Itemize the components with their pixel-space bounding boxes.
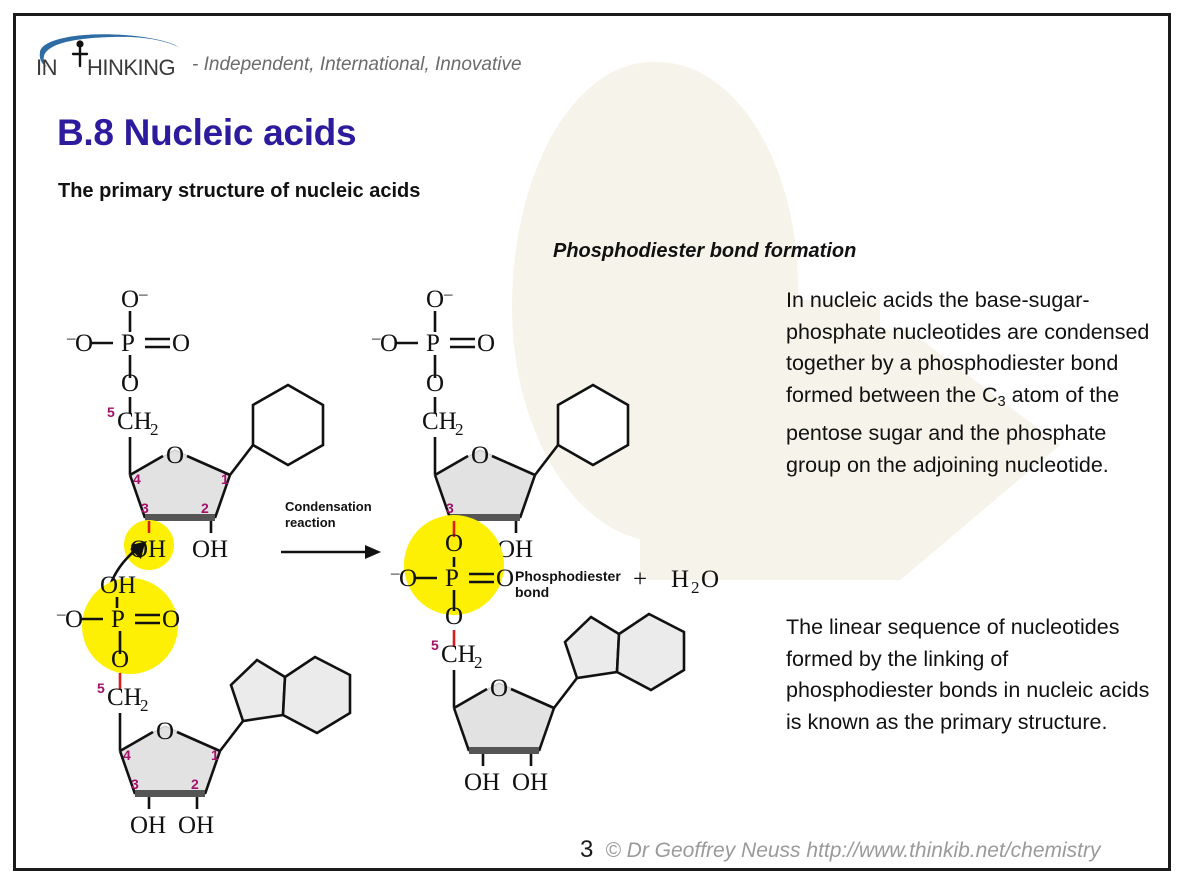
ring-oxygen-bottom: O [156,718,174,745]
product-ch2-subscript-bottom: 2 [474,653,483,672]
product-ring-oxygen-bottom: O [490,675,508,702]
ch2-subscript-bottom: 2 [140,696,149,715]
purine-base-bottom [220,657,350,751]
pentose-ring-bottom: O 4 3 2 1 [120,718,220,797]
ring-number-4-bottom: 4 [123,747,131,763]
ring-number-1-top: 1 [221,471,229,487]
reaction-label-line2: reaction [285,515,336,530]
product-purine-base-bottom [554,614,684,708]
phosphodiester-oxygen-lower: O [445,603,463,630]
body-paragraph-1: In nucleic acids the base-sugar-phosphat… [786,285,1156,481]
product-ring-number-3: 3 [446,500,454,516]
oh-2-top: OH [192,536,228,563]
svg-text:IN: IN [36,55,57,80]
product-oh-2: OH [512,769,548,796]
ring-oxygen-top: O [166,442,184,469]
ring-number-2-top: 2 [201,500,209,516]
ch2-group-top: CH [117,408,152,435]
water-o: O [701,566,719,593]
oh-3-bottom: OH [130,812,166,835]
plus-sign: + [633,566,647,593]
phosphate-group-product-top: O – – O P O O [371,284,495,397]
carbon-5-label-top: 5 [107,404,115,420]
reactant-nucleotide-bottom: OH – O P O O 5 CH 2 [56,572,350,835]
water-h: H [671,566,689,593]
page-title: B.8 Nucleic acids [57,112,356,154]
ring-number-4-top: 4 [133,471,141,487]
phosphate-oh-bottom: OH [100,572,136,599]
phosphodiester-double-oxygen: O [496,565,514,592]
oh-2-bottom: OH [178,812,214,835]
paragraph-1-subscript: 3 [998,394,1006,410]
product-phosphate-ester-oxygen: O [426,370,444,397]
water-subscript: 2 [691,578,700,597]
page-number: 3 [580,836,593,864]
product-pentose-ring-top: O 3 [435,442,535,521]
ch2-subscript-top: 2 [150,420,159,439]
phosphate-o-minus-left: O [75,330,93,357]
ring-number-3-top: 3 [141,500,149,516]
pyrimidine-base-top [230,385,323,475]
phosphodiester-oxygen-upper: O [445,530,463,557]
header-logo-bar: IN HINKING - Independent, International,… [32,28,522,84]
carbon-5-label-bottom: 5 [97,680,105,696]
product-pentose-ring-bottom: O [454,675,554,754]
page-subtitle: The primary structure of nucleic acids [58,180,420,203]
phosphate-group-top: O – – O P O O [66,284,190,397]
slide-canvas: IN HINKING - Independent, International,… [0,0,1192,894]
phosphorus-atom-bottom: P [111,606,125,633]
phosphate-double-bond-oxygen-bottom: O [162,606,180,633]
phosphate-ester-oxygen-bottom: O [111,646,129,673]
reaction-label-line1: Condensation [285,499,372,514]
phosphate-ester-oxygen: O [121,370,139,397]
body-paragraph-2: The linear sequence of nucleotides forme… [786,612,1156,738]
footer: 3 © Dr Geoffrey Neuss http://www.thinkib… [580,836,1101,864]
swoosh-person-logo-icon: IN HINKING [32,30,184,84]
product-ch2-subscript-top: 2 [455,420,464,439]
section-heading: Phosphodiester bond formation [553,240,856,263]
product-dinucleotide: O – – O P O O CH 2 O 3 [371,284,719,796]
bond-label-line2: bond [515,584,549,600]
product-phosphate-o-minus-top: O [426,286,444,313]
phosphate-o-minus-top: O [121,286,139,313]
phosphodiester-o-minus: O [399,565,417,592]
ch2-group-bottom: CH [107,684,142,711]
product-phosphate-o-minus-left: O [380,330,398,357]
product-ch2-top: CH [422,408,457,435]
bond-label-line1: Phosphodiester [515,568,621,584]
ring-number-1-bottom: 1 [211,747,219,763]
phosphate-o-minus-top-charge: – [138,284,148,303]
product-phosphorus-top: P [426,330,440,357]
pentose-ring-top: O 4 3 2 1 [130,442,230,521]
product-phosphate-o-minus-top-charge: – [443,284,453,303]
logo-tagline: - Independent, International, Innovative [192,54,522,84]
phosphate-o-minus-left-bottom: O [65,606,83,633]
phosphodiester-phosphorus: P [445,565,459,592]
copyright-credit: © Dr Geoffrey Neuss http://www.thinkib.n… [605,839,1100,863]
product-carbon-5-label: 5 [431,637,439,653]
svg-text:HINKING: HINKING [87,55,175,80]
ring-number-3-bottom: 3 [131,776,139,792]
condensation-reaction-arrow: Condensation reaction [281,499,381,559]
product-pyrimidine-base-top [535,385,628,475]
inthinking-logo[interactable]: IN HINKING [32,30,184,84]
phosphorus-atom-top: P [121,330,135,357]
product-ring-oxygen-top: O [471,442,489,469]
product-oh-3: OH [464,769,500,796]
ring-number-2-bottom: 2 [191,776,199,792]
product-ch2-bottom: CH [441,641,476,668]
phosphate-double-bond-oxygen: O [172,330,190,357]
phosphodiester-reaction-diagram: O – – O P O O 5 CH 2 O [45,275,775,835]
product-phosphate-double-oxygen: O [477,330,495,357]
